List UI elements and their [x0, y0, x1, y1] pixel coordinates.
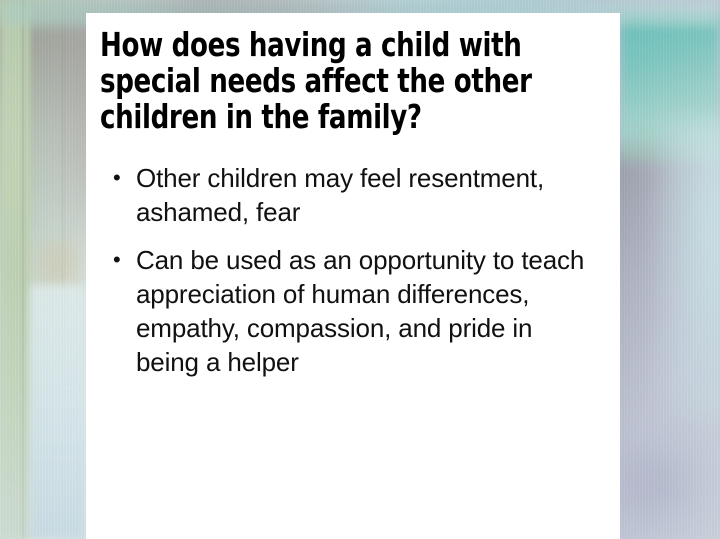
- background-seam-line-2: [62, 0, 64, 539]
- background-seam-line-1: [22, 0, 24, 539]
- bullet-point-icon: •: [113, 243, 121, 277]
- bullet-list: • Other children may feel resentment, as…: [100, 161, 600, 393]
- bullet-item-2-text: Can be used as an opportunity to teach a…: [136, 243, 600, 379]
- bullet-item-1: • Other children may feel resentment, as…: [100, 161, 600, 229]
- bullet-item-2: • Can be used as an opportunity to teach…: [100, 243, 600, 379]
- slide-title: How does having a child with special nee…: [100, 27, 551, 135]
- bullet-item-1-text: Other children may feel resentment, asha…: [136, 161, 600, 229]
- background-teal-block: [620, 14, 720, 164]
- background-green-strip: [0, 0, 30, 539]
- slide-content-panel: How does having a child with special nee…: [86, 13, 620, 539]
- presentation-slide: How does having a child with special nee…: [0, 0, 720, 539]
- background-left-panel: [30, 285, 86, 539]
- bullet-point-icon: •: [113, 161, 121, 195]
- background-tan-patch: [28, 235, 88, 295]
- background-cyan-highlight: [660, 120, 720, 420]
